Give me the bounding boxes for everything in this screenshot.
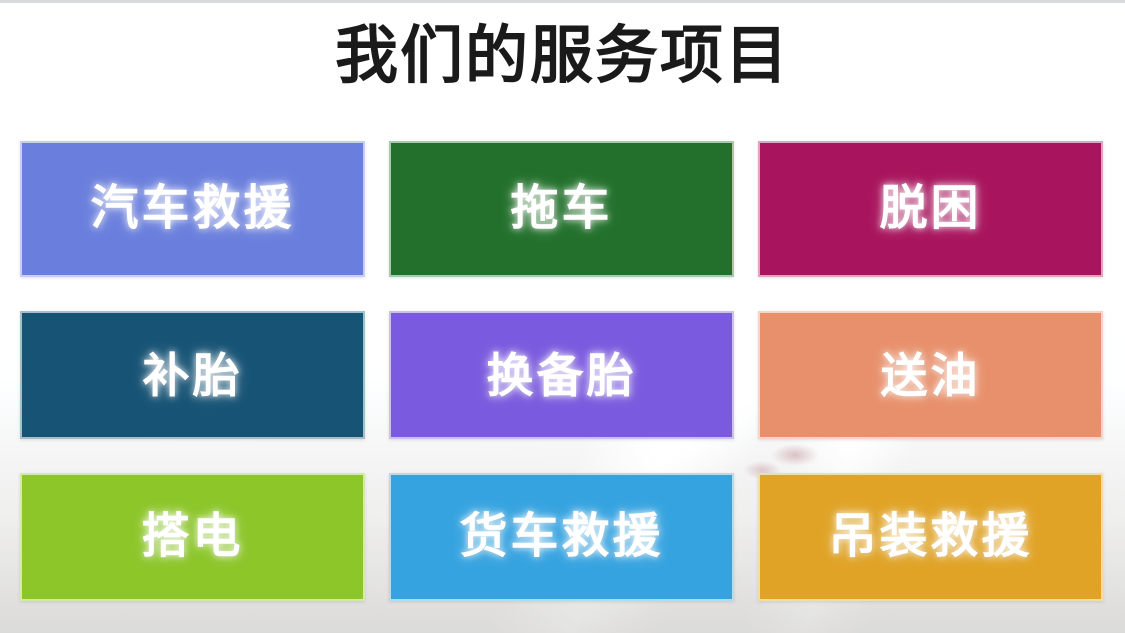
service-tile-spare-tire[interactable]: 换备胎	[389, 311, 734, 439]
service-tile-towing[interactable]: 拖车	[389, 141, 734, 277]
service-tile-label: 送油	[881, 352, 981, 399]
service-tile-label: 脱困	[879, 185, 981, 233]
service-tile-crane-rescue[interactable]: 吊装救援	[758, 473, 1103, 601]
service-tile-label: 吊装救援	[828, 513, 1032, 561]
top-divider	[0, 0, 1125, 3]
page-title: 我们的服务项目	[0, 18, 1125, 94]
service-tile-label: 补胎	[143, 352, 243, 399]
service-tile-label: 搭电	[141, 513, 243, 561]
service-tile-tire-repair[interactable]: 补胎	[20, 311, 365, 439]
service-tile-jump-start[interactable]: 搭电	[20, 473, 365, 601]
service-tile-truck-rescue[interactable]: 货车救援	[389, 473, 734, 601]
service-tile-grid: 汽车救援 拖车 脱困 补胎 换备胎 送油 搭电 货车救援 吊装救援	[20, 141, 1104, 601]
service-tile-label: 汽车救援	[90, 185, 294, 233]
service-tile-label: 拖车	[510, 185, 612, 233]
service-tile-car-rescue[interactable]: 汽车救援	[20, 141, 365, 277]
service-tile-label: 货车救援	[459, 513, 663, 561]
service-tile-extrication[interactable]: 脱困	[758, 141, 1103, 277]
service-tile-label: 换备胎	[487, 352, 637, 399]
service-poster: 我们的服务项目 汽车救援 拖车 脱困 补胎 换备胎 送油 搭电 货车救援 吊装救…	[0, 0, 1125, 633]
service-tile-fuel-delivery[interactable]: 送油	[758, 311, 1103, 439]
